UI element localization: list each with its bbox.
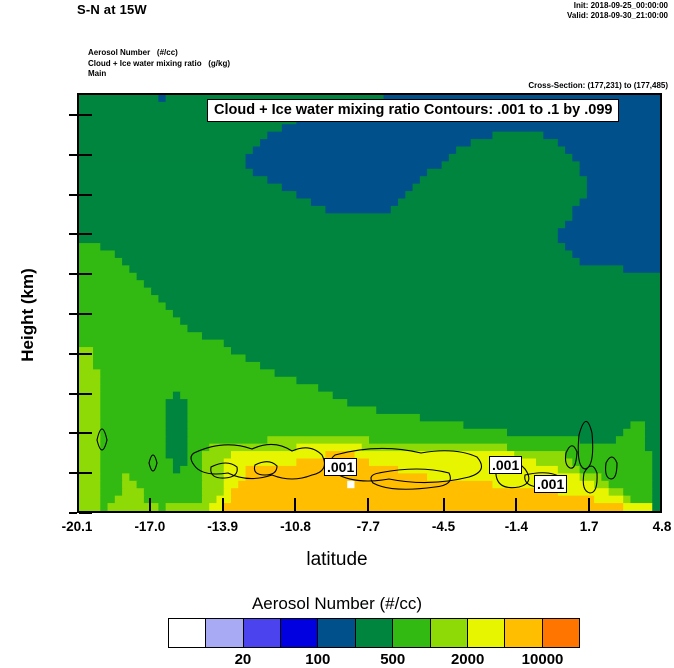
y-axis-tick (79, 233, 92, 235)
y-axis-tick (79, 432, 92, 434)
y-axis-tick (69, 353, 77, 355)
x-axis-tick (515, 498, 517, 511)
page-title: S-N at 15W (77, 2, 147, 17)
variable-list: Aerosol Number (#/cc) Cloud + Ice water … (88, 48, 230, 80)
y-axis-tick (69, 472, 77, 474)
contour-label: .001 (534, 475, 567, 493)
colorbar-title: Aerosol Number (#/cc) (0, 594, 674, 614)
x-axis-tick (149, 498, 151, 511)
cross-section-endpoints: Cross-Section: (177,231) to (177,485) (528, 81, 668, 90)
y-axis-tick (79, 313, 92, 315)
y-axis-tick (69, 233, 77, 235)
y-axis-tick (69, 154, 77, 156)
y-axis-tick (79, 273, 92, 275)
y-axis-tick (69, 194, 77, 196)
y-axis-tick (69, 273, 77, 275)
x-axis-tick (588, 498, 590, 511)
colorbar-swatch (505, 619, 542, 647)
x-axis-tick-label: 4.8 (617, 519, 674, 534)
x-axis-tick (222, 498, 224, 511)
colorbar (168, 618, 580, 648)
x-axis-tick (367, 498, 369, 511)
y-axis-tick (79, 393, 92, 395)
colorbar-swatch (393, 619, 430, 647)
x-axis-tick (443, 498, 445, 511)
cross-section-plot: .001.001.001 (77, 93, 662, 513)
run-time-block: Init: 2018-09-25_00:00:00 Valid: 2018-09… (567, 1, 668, 21)
colorbar-swatch (281, 619, 318, 647)
y-axis-tick (79, 472, 92, 474)
x-axis-label: latitude (0, 549, 674, 571)
aerosol-field (79, 95, 660, 511)
colorbar-swatch (431, 619, 468, 647)
contour-label: .001 (489, 456, 522, 474)
init-time: Init: 2018-09-25_00:00:00 (567, 1, 668, 11)
y-axis-tick (69, 432, 77, 434)
y-axis-label: Height (km) (18, 225, 38, 405)
colorbar-swatch (244, 619, 281, 647)
colorbar-swatch (318, 619, 355, 647)
valid-time: Valid: 2018-09-30_21:00:00 (567, 11, 668, 21)
colorbar-swatch (169, 619, 206, 647)
colorbar-tick-label: 10000 (498, 651, 588, 668)
y-axis-tick (69, 313, 77, 315)
colorbar-swatch (543, 619, 579, 647)
y-axis-tick (69, 393, 77, 395)
colorbar-swatch (206, 619, 243, 647)
contour-title-box: Cloud + Ice water mixing ratio Contours:… (207, 99, 619, 122)
y-axis-tick (79, 353, 92, 355)
y-axis-tick (79, 114, 92, 116)
y-axis-tick (79, 154, 92, 156)
y-axis-tick (69, 114, 77, 116)
y-axis-tick (79, 194, 92, 196)
colorbar-swatch (356, 619, 393, 647)
contour-label: .001 (324, 458, 357, 476)
colorbar-swatch (468, 619, 505, 647)
y-axis-tick (69, 512, 77, 514)
y-axis-tick (79, 512, 92, 514)
x-axis-tick (294, 498, 296, 511)
